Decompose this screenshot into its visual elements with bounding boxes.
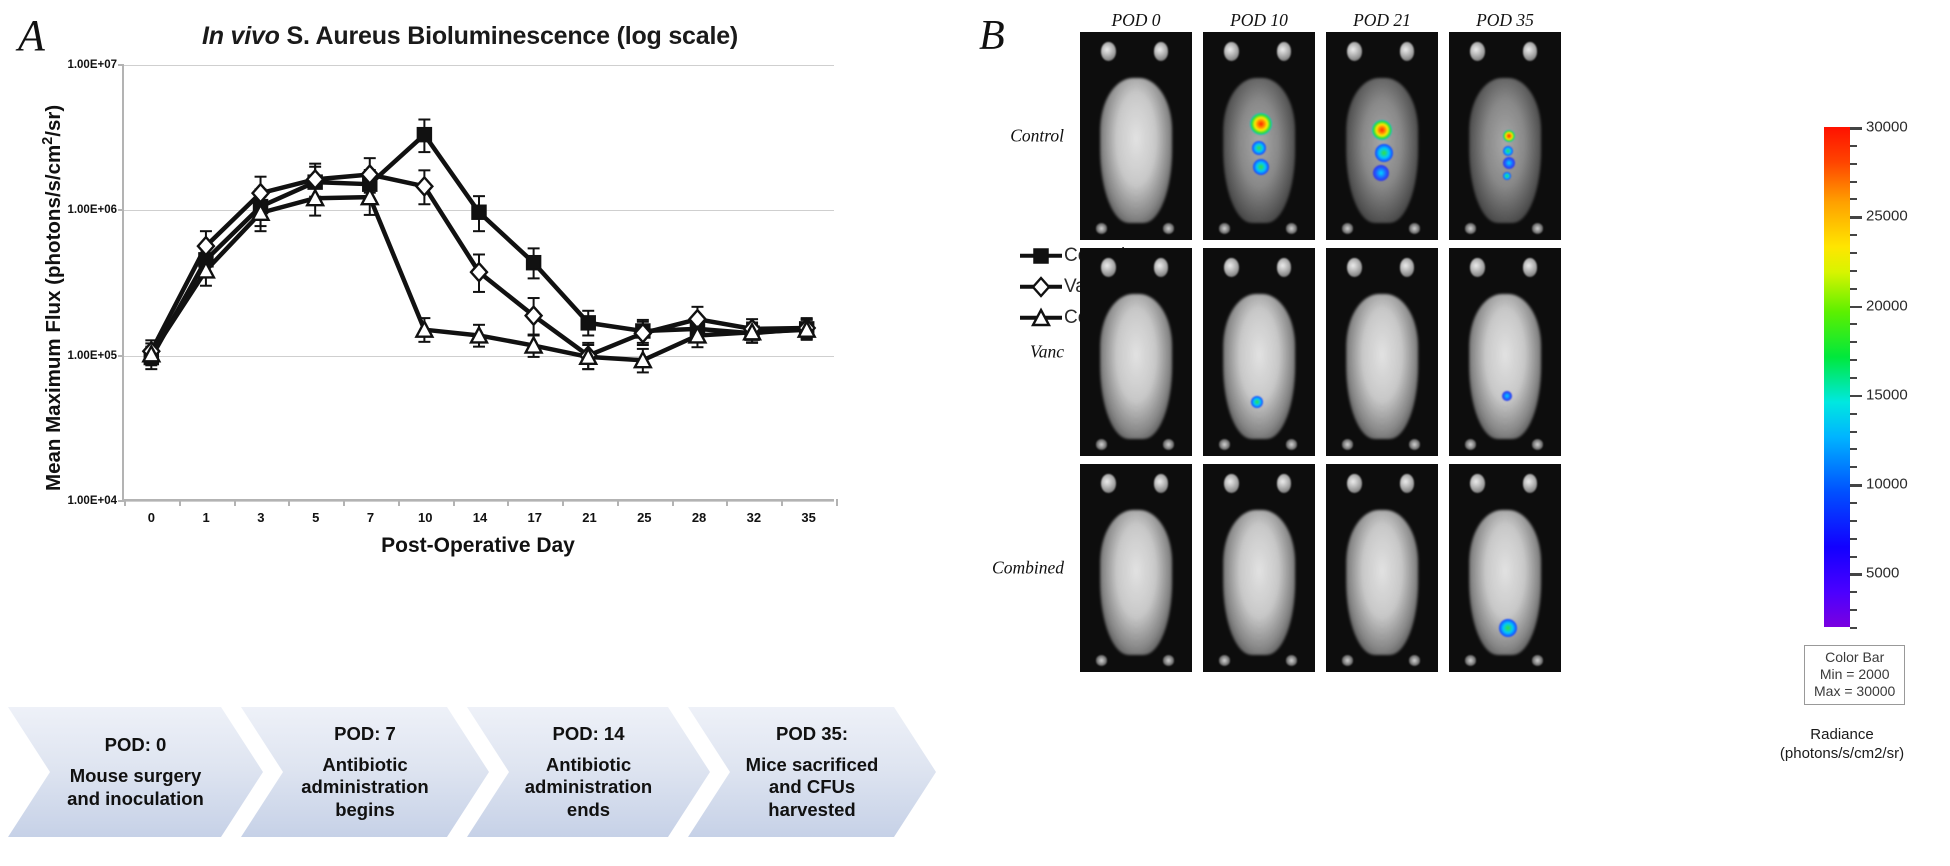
- gridline: [124, 210, 834, 211]
- x-tick-mark: [343, 499, 345, 506]
- mouse-image-combined-pod35[interactable]: [1449, 464, 1561, 672]
- x-tick-mark: [672, 499, 674, 506]
- x-tick-label: 5: [312, 510, 319, 525]
- mouse-ear-left: [1101, 474, 1116, 493]
- chart-title-rest: S. Aureus Bioluminescence (log scale): [280, 22, 738, 50]
- y-tick-label: 1.00E+05: [67, 350, 117, 362]
- flow-step-line: harvested: [746, 799, 879, 822]
- color-bar-tick: [1850, 163, 1857, 165]
- mouse-ear-left: [1347, 42, 1362, 61]
- gridline: [124, 65, 834, 66]
- mouse-paw-left: [1219, 223, 1230, 233]
- color-bar-tick: [1850, 127, 1862, 130]
- flow-step-line: Antibiotic: [301, 754, 428, 777]
- color-bar-tick: [1850, 359, 1857, 361]
- mouse-ear-right: [1277, 474, 1292, 493]
- color-bar-tick: [1850, 627, 1857, 629]
- y-tick-mark: [118, 64, 124, 66]
- flow-step-title: POD: 0: [105, 734, 167, 756]
- color-bar-info-box: Color Bar Min = 2000 Max = 30000: [1804, 645, 1905, 705]
- radiance-caption-line2: (photons/s/cm2/sr): [1737, 745, 1947, 764]
- x-tick-mark: [617, 499, 619, 506]
- y-tick-label: 1.00E+07: [67, 59, 117, 71]
- mouse-ear-left: [1347, 258, 1362, 277]
- y-tick-mark: [118, 209, 124, 211]
- flow-step-body: Mice sacrificedand CFUsharvested: [746, 754, 879, 822]
- color-bar-tick: [1850, 270, 1857, 272]
- flow-step-title: POD: 14: [553, 723, 625, 745]
- timeline-flowchart: POD: 0Mouse surgeryand inoculationPOD: 7…: [8, 707, 968, 837]
- x-tick-mark: [562, 499, 564, 506]
- color-bar-tick: [1850, 538, 1857, 540]
- bioluminescence-signal-spot: [1502, 391, 1512, 401]
- color-bar-tick-label: 25000: [1866, 208, 1908, 225]
- color-bar-tick: [1850, 431, 1857, 433]
- error-bars-control: [145, 120, 812, 370]
- error-bars-vanc: [145, 158, 812, 369]
- x-tick-mark: [179, 499, 181, 506]
- color-bar-tick-label: 20000: [1866, 297, 1908, 314]
- mouse-image-vanc-pod0[interactable]: [1080, 248, 1192, 456]
- panel-b-images: B POD 0POD 10POD 21POD 35 ControlVancCom…: [975, 0, 1950, 866]
- color-bar-tick: [1850, 556, 1857, 558]
- flow-step-body: Antibioticadministrationbegins: [301, 754, 428, 822]
- color-bar-box-title: Color Bar: [1814, 649, 1895, 666]
- color-bar-box-min: Min = 2000: [1814, 666, 1895, 683]
- x-tick-mark: [124, 499, 126, 506]
- flow-step-body: Mouse surgeryand inoculation: [67, 765, 204, 810]
- mouse-paw-left: [1096, 223, 1107, 233]
- mouse-ear-left: [1224, 258, 1239, 277]
- x-tick-label: 28: [692, 510, 706, 525]
- x-tick-label: 32: [747, 510, 761, 525]
- mouse-image-vanc-pod21[interactable]: [1326, 248, 1438, 456]
- flow-step-line: ends: [525, 799, 652, 822]
- color-bar-tick: [1850, 341, 1857, 343]
- mouse-image-combined-pod10[interactable]: [1203, 464, 1315, 672]
- x-tick-mark: [781, 499, 783, 506]
- x-tick-label: 10: [418, 510, 432, 525]
- mouse-ear-left: [1224, 474, 1239, 493]
- mouse-paw-left: [1342, 439, 1353, 449]
- color-bar-tick: [1850, 520, 1857, 522]
- series-markers-control: [144, 128, 813, 365]
- color-bar-tick-label: 10000: [1866, 476, 1908, 493]
- x-tick-mark: [398, 499, 400, 506]
- mouse-paw-left: [1465, 223, 1476, 233]
- color-bar-tick: [1850, 573, 1862, 576]
- mouse-ear-left: [1347, 474, 1362, 493]
- flow-step-line: begins: [301, 799, 428, 822]
- color-bar-tick: [1850, 395, 1862, 398]
- bioluminescence-signal-spot: [1503, 157, 1515, 169]
- color-bar-tick: [1850, 288, 1857, 290]
- bioluminescence-signal-spot: [1375, 144, 1393, 162]
- x-tick-label: 7: [367, 510, 374, 525]
- mouse-ear-right: [1277, 258, 1292, 277]
- chart-title: In vivo S. Aureus Bioluminescence (log s…: [90, 22, 850, 51]
- mouse-paw-left: [1342, 655, 1353, 665]
- mouse-paw-right: [1286, 655, 1297, 665]
- gridline: [124, 356, 834, 357]
- mouse-ear-right: [1400, 258, 1415, 277]
- series-line-combined: [151, 197, 806, 360]
- bioluminescence-signal-spot: [1503, 172, 1511, 180]
- y-axis-title: Mean Maximum Flux (photons/s/cm2/sr): [40, 88, 66, 508]
- x-tick-mark: [453, 499, 455, 506]
- y-axis-title-pre: Mean Maximum Flux (photons/s/cm: [42, 145, 65, 491]
- bioluminescence-signal-spot: [1503, 146, 1513, 156]
- y-tick-mark: [118, 355, 124, 357]
- flow-step-line: Antibiotic: [525, 754, 652, 777]
- flow-step-line: administration: [525, 776, 652, 799]
- mouse-paw-left: [1219, 439, 1230, 449]
- mouse-image-control-pod0[interactable]: [1080, 32, 1192, 240]
- mouse-ear-right: [1400, 474, 1415, 493]
- chart-title-italic: In vivo: [202, 22, 280, 50]
- color-bar-tick: [1850, 502, 1857, 504]
- x-tick-mark: [836, 499, 838, 506]
- mouse-paw-left: [1465, 655, 1476, 665]
- mouse-paw-left: [1342, 223, 1353, 233]
- mouse-ear-right: [1523, 42, 1538, 61]
- mouse-ear-left: [1224, 42, 1239, 61]
- mouse-paw-right: [1532, 439, 1543, 449]
- mouse-paw-right: [1163, 655, 1174, 665]
- series-markers-combined: [143, 189, 814, 367]
- mouse-paw-left: [1096, 439, 1107, 449]
- group-row-label-vanc: Vanc: [975, 342, 1064, 363]
- color-bar-tick-label: 15000: [1866, 386, 1908, 403]
- color-bar-tick: [1850, 466, 1857, 468]
- x-tick-mark: [288, 499, 290, 506]
- panel-a-letter: A: [18, 10, 45, 61]
- bioluminescence-signal-spot: [1372, 120, 1392, 140]
- color-bar-tick: [1850, 234, 1857, 236]
- mouse-paw-left: [1219, 655, 1230, 665]
- flow-step-line: and CFUs: [746, 776, 879, 799]
- mouse-image-control-pod21[interactable]: [1326, 32, 1438, 240]
- color-bar-tick: [1850, 181, 1857, 183]
- mouse-paw-right: [1286, 439, 1297, 449]
- mouse-paw-right: [1409, 223, 1420, 233]
- flow-step-3: POD: 14Antibioticadministrationends: [467, 707, 710, 837]
- mouse-paw-right: [1286, 223, 1297, 233]
- color-bar-tick: [1850, 252, 1857, 254]
- mouse-ear-right: [1154, 258, 1169, 277]
- color-bar-gradient: [1824, 127, 1850, 627]
- pod-column-label-0: POD 0: [1111, 10, 1160, 31]
- color-bar-tick: [1850, 323, 1857, 325]
- x-axis-title: Post-Operative Day: [122, 534, 834, 558]
- flow-step-line: and inoculation: [67, 788, 204, 811]
- bioluminescence-signal-spot: [1253, 159, 1269, 175]
- mouse-paw-right: [1532, 655, 1543, 665]
- bioluminescence-signal-spot: [1250, 113, 1272, 135]
- color-bar-tick: [1850, 216, 1862, 219]
- flow-step-line: Mice sacrificed: [746, 754, 879, 777]
- color-bar-tick: [1850, 145, 1857, 147]
- mouse-ear-right: [1400, 42, 1415, 61]
- color-bar-tick: [1850, 448, 1857, 450]
- y-tick-label: 1.00E+06: [67, 204, 117, 216]
- mouse-ear-left: [1101, 42, 1116, 61]
- mouse-ear-left: [1470, 474, 1485, 493]
- x-tick-label: 3: [257, 510, 264, 525]
- mouse-paw-right: [1532, 223, 1543, 233]
- mouse-body: [1346, 510, 1418, 656]
- series-line-vanc: [151, 175, 806, 356]
- color-bar-tick: [1850, 377, 1857, 379]
- series-plot: [124, 65, 834, 499]
- color-bar-tick: [1850, 413, 1857, 415]
- panel-a-chart: A In vivo S. Aureus Bioluminescence (log…: [0, 0, 975, 866]
- mouse-body: [1346, 294, 1418, 440]
- flow-step-title: POD 35:: [776, 723, 848, 745]
- mouse-ear-right: [1277, 42, 1292, 61]
- color-bar-tick: [1850, 306, 1862, 309]
- y-axis-title-post: /sr): [42, 105, 65, 137]
- flow-step-4: POD 35:Mice sacrificedand CFUsharvested: [688, 707, 936, 837]
- x-tick-label: 17: [528, 510, 542, 525]
- flow-step-2: POD: 7Antibioticadministrationbegins: [241, 707, 489, 837]
- mouse-ear-left: [1470, 42, 1485, 61]
- flow-step-title: POD: 7: [334, 723, 396, 745]
- flow-step-body: Antibioticadministrationends: [525, 754, 652, 822]
- mouse-paw-right: [1409, 655, 1420, 665]
- x-tick-mark: [507, 499, 509, 506]
- plot-area: 1.00E+071.00E+061.00E+051.00E+04 0135710…: [122, 65, 834, 501]
- x-tick-mark: [726, 499, 728, 506]
- radiance-caption: Radiance (photons/s/cm2/sr): [1737, 726, 1947, 764]
- color-bar-tick: [1850, 609, 1857, 611]
- mouse-body: [1223, 510, 1295, 656]
- color-bar: 30000250002000015000100005000: [1824, 127, 1850, 627]
- mouse-ear-left: [1470, 258, 1485, 277]
- mouse-paw-right: [1163, 439, 1174, 449]
- series-markers-vanc: [143, 166, 814, 365]
- mouse-body: [1223, 294, 1295, 440]
- color-bar-tick: [1850, 484, 1862, 487]
- x-tick-label: 21: [582, 510, 596, 525]
- mouse-image-control-pod10[interactable]: [1203, 32, 1315, 240]
- flow-step-line: administration: [301, 776, 428, 799]
- x-tick-label: 0: [148, 510, 155, 525]
- mouse-ear-right: [1523, 474, 1538, 493]
- mouse-body: [1100, 510, 1172, 656]
- bioluminescence-signal-spot: [1499, 619, 1517, 637]
- y-axis-title-exponent: 2: [40, 137, 56, 145]
- flow-step-line: Mouse surgery: [67, 765, 204, 788]
- mouse-ear-left: [1101, 258, 1116, 277]
- mouse-paw-left: [1096, 655, 1107, 665]
- mouse-image-vanc-pod10[interactable]: [1203, 248, 1315, 456]
- radiance-caption-line1: Radiance: [1737, 726, 1947, 745]
- mouse-image-control-pod35[interactable]: [1449, 32, 1561, 240]
- bioluminescence-signal-spot: [1373, 165, 1389, 181]
- color-bar-box-max: Max = 30000: [1814, 683, 1895, 700]
- x-tick-label: 35: [801, 510, 815, 525]
- color-bar-tick: [1850, 198, 1857, 200]
- color-bar-tick-label: 5000: [1866, 565, 1899, 582]
- pod-column-label-1: POD 10: [1230, 10, 1288, 31]
- x-tick-label: 14: [473, 510, 487, 525]
- bioluminescence-signal-spot: [1251, 396, 1263, 408]
- x-tick-label: 25: [637, 510, 651, 525]
- mouse-paw-right: [1409, 439, 1420, 449]
- panel-b-letter: B: [979, 12, 1005, 60]
- pod-column-label-3: POD 35: [1476, 10, 1534, 31]
- mouse-image-combined-pod21[interactable]: [1326, 464, 1438, 672]
- x-tick-mark: [234, 499, 236, 506]
- group-row-label-control: Control: [975, 126, 1064, 147]
- mouse-ear-right: [1523, 258, 1538, 277]
- pod-column-label-2: POD 21: [1353, 10, 1411, 31]
- mouse-ear-right: [1154, 42, 1169, 61]
- mouse-ear-right: [1154, 474, 1169, 493]
- y-tick-label: 1.00E+04: [67, 495, 117, 507]
- bioluminescence-signal-spot: [1503, 130, 1515, 142]
- mouse-image-vanc-pod35[interactable]: [1449, 248, 1561, 456]
- x-tick-label: 1: [203, 510, 210, 525]
- mouse-body: [1100, 78, 1172, 224]
- group-row-label-combined: Combined: [975, 558, 1064, 579]
- flow-step-1: POD: 0Mouse surgeryand inoculation: [8, 707, 263, 837]
- color-bar-tick: [1850, 591, 1857, 593]
- mouse-body: [1469, 294, 1541, 440]
- mouse-image-combined-pod0[interactable]: [1080, 464, 1192, 672]
- mouse-paw-right: [1163, 223, 1174, 233]
- bioluminescence-signal-spot: [1252, 141, 1266, 155]
- color-bar-tick-label: 30000: [1866, 119, 1908, 136]
- series-line-control: [151, 135, 806, 358]
- mouse-body: [1100, 294, 1172, 440]
- mouse-paw-left: [1465, 439, 1476, 449]
